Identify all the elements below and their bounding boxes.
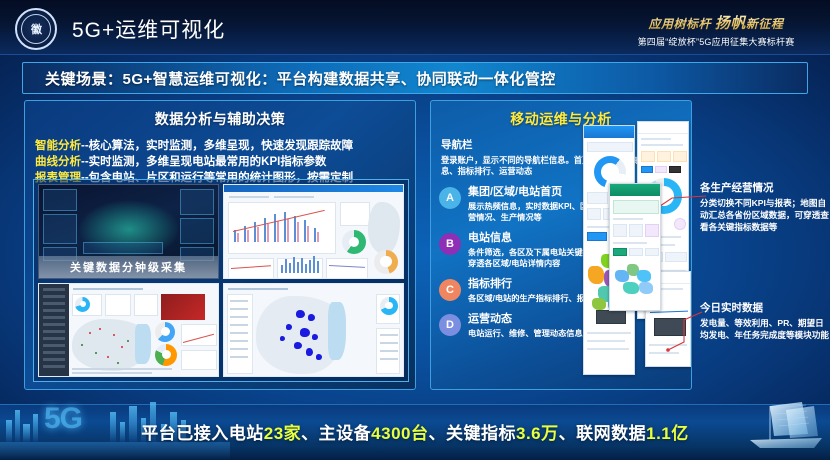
annotation-body: 发电量、等效利用、PR、期望日均发电、年任务完成度等模块功能 <box>700 317 830 341</box>
phone-mobile-station-map[interactable] <box>609 183 661 311</box>
screenshot-kpi-analysis-dashboard[interactable] <box>223 184 404 279</box>
key-scene-banner: 关键场景：5G+智慧运维可视化：平台构建数据共享、协同联动一体化管控 <box>22 62 808 94</box>
seal-inner-ring: 徽 <box>21 14 51 44</box>
screenshot-gallery: 关键数据分钟级采集 <box>33 179 409 382</box>
slogan-part-c: 新征程 <box>746 17 784 31</box>
annotation-production-operation: 各生产经营情况 分类切换不同KPI与报表；地图自动汇总各省份区域数据，可穿透查看… <box>700 182 830 233</box>
competition-branding: 应用树标杆 扬帆新征程 第四届“绽放杯”5G应用征集大赛标杆赛 <box>616 12 816 48</box>
screenshot-caption: 关键数据分钟级采集 <box>39 256 218 278</box>
stats-sep2: 、关键指标 <box>428 424 516 443</box>
stats-sep3: 、联网数据 <box>559 424 647 443</box>
screenshot-regional-distribution-dashboard[interactable] <box>223 283 404 378</box>
stat-networked-data: 1.1亿 <box>646 424 689 443</box>
slide-root: 徽 5G+运维可视化 应用树标杆 扬帆新征程 第四届“绽放杯”5G应用征集大赛标… <box>0 0 830 460</box>
platform-stats-text: 平台已接入电站23家、主设备4300台、关键指标3.6万、联网数据1.1亿 <box>0 419 830 444</box>
right-panel-mobile-ops: 移动运维与分析 导航栏 登录账户，显示不同的导航栏信息。首页（集团、区域）、电站… <box>430 100 692 390</box>
stats-prefix: 平台已接入电站 <box>141 424 264 443</box>
annotation-title: 各生产经营情况 <box>700 182 830 195</box>
stat-stations: 23家 <box>264 424 301 443</box>
badge-b: B <box>439 233 461 255</box>
sailing-ship-graphic <box>730 400 826 456</box>
annotation-title: 今日实时数据 <box>700 302 830 315</box>
bullet-key: 曲线分析 <box>35 156 81 168</box>
slogan-part-a: 应用树标杆 <box>649 17 712 31</box>
mobile-screenshot-cluster <box>583 121 689 383</box>
institution-seal-icon: 徽 <box>15 8 57 50</box>
screenshot-gis-command-board[interactable]: 关键数据分钟级采集 <box>38 184 219 279</box>
bullet-text: --核心算法，实时监测，多维呈现，快速发现跟踪故障 <box>81 140 353 152</box>
badge-d: D <box>439 314 461 336</box>
key-scene-text: 关键场景：5G+智慧运维可视化：平台构建数据共享、协同联动一体化管控 <box>45 68 556 89</box>
stat-indicators: 3.6万 <box>516 424 559 443</box>
badge-c: C <box>439 279 461 301</box>
page-title: 5G+运维可视化 <box>72 14 225 44</box>
left-panel-title: 数据分析与辅助决策 <box>25 109 415 129</box>
slide-header: 徽 5G+运维可视化 应用树标杆 扬帆新征程 第四届“绽放杯”5G应用征集大赛标… <box>0 0 830 55</box>
annotation-body: 分类切换不同KPI与报表；地图自动汇总各省份区域数据，可穿透查看各关键指标数据等 <box>700 197 830 233</box>
slogan-part-b: 扬帆 <box>715 15 746 32</box>
annotation-today-realtime: 今日实时数据 发电量、等效利用、PR、期望日均发电、年任务完成度等模块功能 <box>700 302 830 341</box>
competition-slogan: 应用树标杆 扬帆新征程 <box>616 12 816 33</box>
bullet-key: 智能分析 <box>35 140 81 152</box>
bullet-line: 智能分析--核心算法，实时监测，多维呈现，快速发现跟踪故障 <box>35 138 415 154</box>
bullet-text: --实时监测，多维呈现电站最常用的KPI指标参数 <box>81 156 326 168</box>
left-panel-data-analysis: 数据分析与辅助决策 智能分析--核心算法，实时监测，多维呈现，快速发现跟踪故障 … <box>24 100 416 390</box>
badge-a: A <box>439 187 461 209</box>
bullet-line: 曲线分析--实时监测，多维呈现电站最常用的KPI指标参数 <box>35 154 415 170</box>
competition-subtitle: 第四届“绽放杯”5G应用征集大赛标杆赛 <box>616 35 816 48</box>
stat-devices: 4300台 <box>371 424 428 443</box>
bottom-stats-bar: 5G 平台已接入电站23家、主设备4300台、关键指标3.6万、联网数据1.1亿 <box>0 404 830 460</box>
screenshot-station-map-dashboard[interactable] <box>38 283 219 378</box>
stats-sep1: 、主设备 <box>301 424 371 443</box>
